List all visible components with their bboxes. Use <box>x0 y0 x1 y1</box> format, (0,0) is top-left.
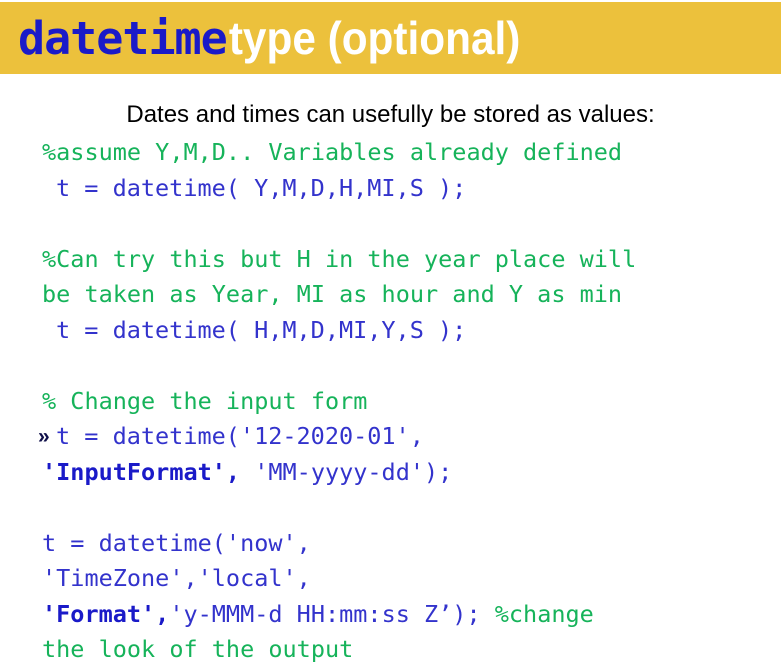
title-sans-part: type (optional) <box>227 15 520 61</box>
code-line: 'TimeZone','local', <box>0 561 781 597</box>
code-token-code: t = datetime( Y,M,D,H,MI,S ); <box>56 174 466 202</box>
code-line: t = datetime( H,M,D,MI,Y,S ); <box>0 313 781 349</box>
code-token-bold: 'InputFormat', <box>42 458 240 486</box>
code-token-code: 'TimeZone','local', <box>42 564 311 592</box>
code-line: t = datetime('now', <box>0 526 781 562</box>
code-token-comment: %change <box>495 600 594 628</box>
code-token-code: 'y-MMM-d HH:mm:ss Z’); <box>169 600 494 628</box>
code-token-code: 'MM-yyyy-dd'); <box>240 458 452 486</box>
slide-title-banner: datetime type (optional) <box>0 2 781 74</box>
code-line: % Change the input form <box>0 384 781 420</box>
code-token-code: t = datetime('now', <box>42 529 311 557</box>
code-line-blank <box>0 348 781 384</box>
code-token-bold: 'Format', <box>42 600 169 628</box>
code-line-blank <box>0 206 781 242</box>
code-token-code: t = datetime('12-2020-01', <box>56 422 424 450</box>
code-token-comment: %assume Y,M,D.. Variables already define… <box>42 138 622 166</box>
slide-body: Dates and times can usefully be stored a… <box>0 74 781 671</box>
code-line: 'Format','y-MMM-d HH:mm:ss Z’); %change <box>0 597 781 633</box>
code-line: 'InputFormat', 'MM-yyyy-dd'); <box>0 455 781 491</box>
code-line: »t = datetime('12-2020-01', <box>0 419 781 455</box>
prompt-marker-icon: » <box>38 419 50 455</box>
code-block: %assume Y,M,D.. Variables already define… <box>0 127 781 668</box>
code-line: %Can try this but H in the year place wi… <box>0 242 781 278</box>
code-line: the look of the output <box>0 632 781 668</box>
title-mono-part: datetime <box>0 16 227 61</box>
code-line: t = datetime( Y,M,D,H,MI,S ); <box>0 171 781 207</box>
code-token-comment: be taken as Year, MI as hour and Y as mi… <box>42 280 622 308</box>
lead-sentence: Dates and times can usefully be stored a… <box>0 74 781 127</box>
code-token-comment: %Can try this but H in the year place wi… <box>42 245 636 273</box>
code-token-comment: % Change the input form <box>42 387 367 415</box>
code-line-blank <box>0 490 781 526</box>
code-token-comment: the look of the output <box>42 635 353 663</box>
code-line: %assume Y,M,D.. Variables already define… <box>0 135 781 171</box>
code-token-code: t = datetime( H,M,D,MI,Y,S ); <box>56 316 466 344</box>
slide-root: { "slide": { "title": { "mono_part": "da… <box>0 0 781 671</box>
code-line: be taken as Year, MI as hour and Y as mi… <box>0 277 781 313</box>
